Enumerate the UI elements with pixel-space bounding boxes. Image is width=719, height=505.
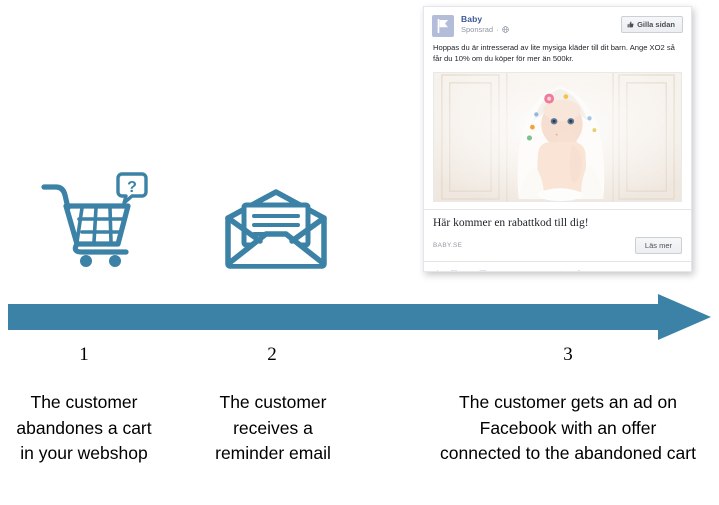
ad-link-row: BABY.SE Läs mer	[433, 237, 682, 254]
ad-link-bar: Här kommer en rabattkod till dig! BABY.S…	[424, 209, 691, 263]
baby-in-hooded-towel-photo	[434, 73, 681, 201]
step-caption-3: The customer gets an ad on Facebook with…	[438, 390, 698, 467]
facebook-ad-header: Baby Sponsrad · Gilla sidan	[424, 7, 691, 41]
share-arrow-icon	[555, 270, 564, 272]
comment-icon	[479, 270, 487, 272]
ad-headline[interactable]: Här kommer en rabattkod till dig!	[433, 217, 682, 231]
step-number-2: 2	[222, 344, 322, 370]
like-action-label: Gilla	[445, 269, 461, 272]
separator-dot: ·	[496, 26, 499, 34]
comment-action-button[interactable]: Kommentera	[479, 269, 537, 272]
globe-icon	[502, 26, 509, 33]
like-action-button[interactable]: Gilla	[433, 269, 461, 272]
share-action-button[interactable]: Dela	[555, 269, 584, 272]
read-more-button[interactable]: Läs mer	[635, 237, 682, 254]
step-caption-2: The customer receives a reminder email	[204, 390, 342, 467]
ad-domain: BABY.SE	[433, 242, 462, 249]
ad-body-text: Hoppas du är intresserad av lite mysiga …	[424, 41, 691, 72]
ad-action-bar: Gilla Kommentera Dela	[424, 262, 691, 272]
open-envelope-icon	[222, 188, 330, 270]
thumbs-up-icon	[627, 21, 634, 28]
timeline-arrow	[8, 294, 711, 340]
facebook-ad-card: Baby Sponsrad · Gilla sidan Hoppas du är…	[423, 6, 692, 272]
shopping-cart-question-icon: ?	[36, 172, 148, 268]
like-page-label: Gilla sidan	[637, 20, 675, 29]
comment-action-label: Kommentera	[491, 269, 537, 272]
question-bubble-icon: ?	[118, 174, 146, 203]
page-name[interactable]: Baby	[461, 15, 621, 24]
step-1-icon: ?	[36, 172, 148, 268]
flag-icon	[437, 19, 449, 33]
step-caption-1: The customer abandones a cart in your we…	[14, 390, 154, 467]
sponsored-label: Sponsrad	[461, 26, 493, 34]
sponsored-row: Sponsrad ·	[461, 26, 621, 34]
ad-photo[interactable]	[433, 72, 682, 202]
step-number-1: 1	[34, 344, 134, 370]
like-page-button[interactable]: Gilla sidan	[621, 16, 683, 33]
share-action-label: Dela	[568, 269, 584, 272]
page-avatar-icon[interactable]	[432, 15, 454, 37]
svg-text:?: ?	[127, 179, 137, 196]
right-arrow-icon	[8, 294, 711, 340]
facebook-page-info: Baby Sponsrad ·	[461, 15, 621, 34]
thumbs-up-icon	[433, 270, 441, 272]
step-number-3: 3	[518, 344, 618, 370]
step-2-icon	[222, 188, 330, 270]
